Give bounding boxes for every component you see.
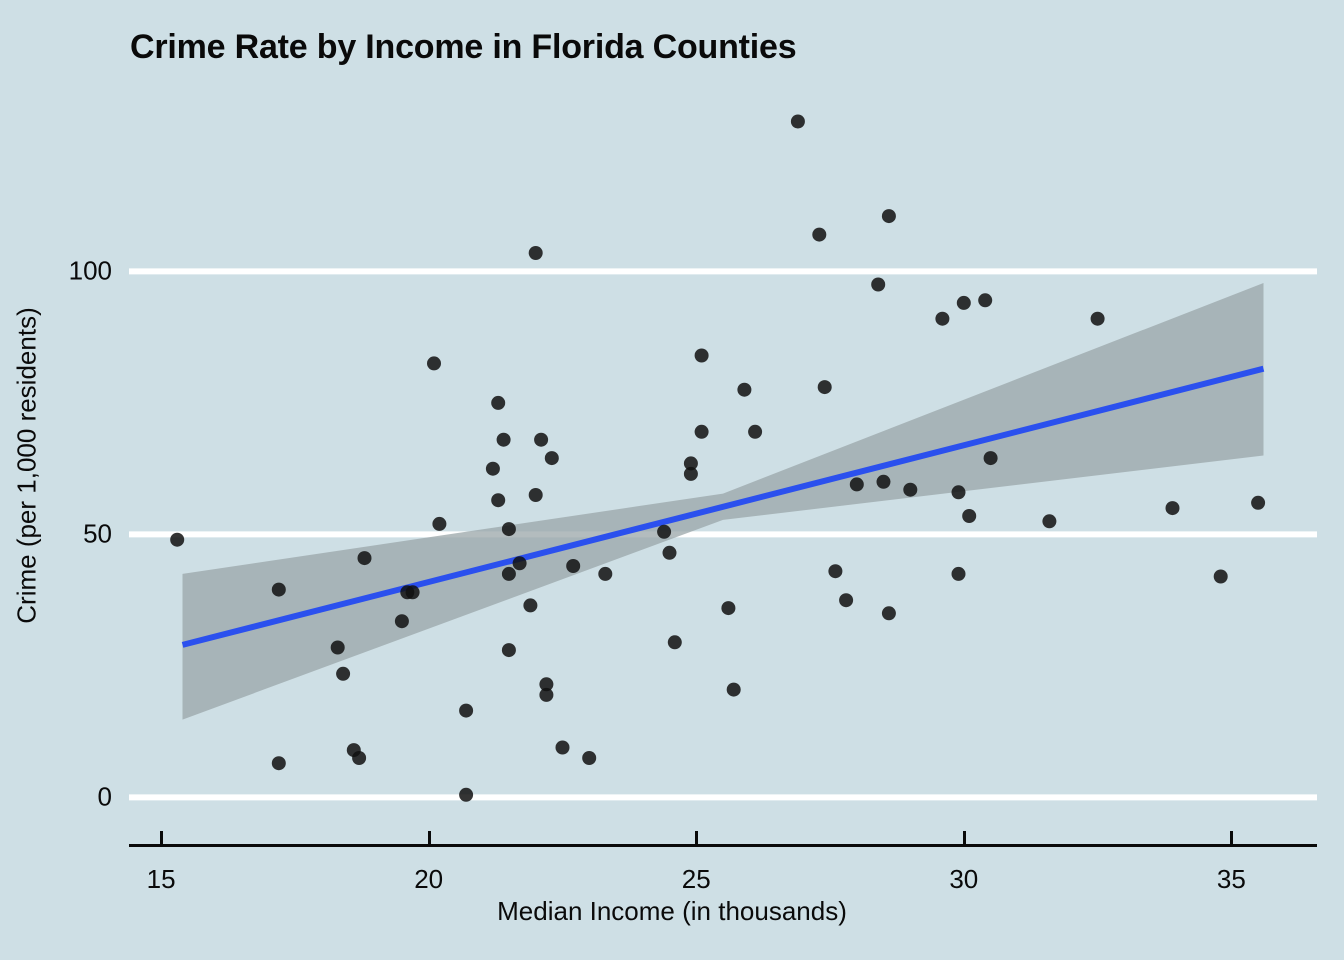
data-point <box>882 606 896 620</box>
data-point <box>1214 570 1228 584</box>
data-point <box>828 564 842 578</box>
data-point <box>502 522 516 536</box>
chart-figure: Crime Rate by Income in Florida Counties… <box>0 0 1344 960</box>
data-point <box>352 751 366 765</box>
data-point <box>695 425 709 439</box>
data-point <box>529 488 543 502</box>
data-point <box>502 567 516 581</box>
data-point <box>1091 312 1105 326</box>
data-point <box>882 209 896 223</box>
data-point <box>737 383 751 397</box>
data-point <box>358 551 372 565</box>
data-point <box>598 567 612 581</box>
x-tick-mark-1 <box>428 831 431 845</box>
x-tick-label-2: 25 <box>682 864 711 895</box>
data-point <box>903 483 917 497</box>
data-point <box>1042 514 1056 528</box>
x-tick-mark-0 <box>160 831 163 845</box>
data-point <box>1166 501 1180 515</box>
data-point <box>523 598 537 612</box>
y-tick-label-2: 100 <box>69 256 112 287</box>
data-point <box>502 643 516 657</box>
x-tick-label-0: 15 <box>147 864 176 895</box>
data-point <box>459 788 473 802</box>
data-point <box>871 278 885 292</box>
data-point <box>566 559 580 573</box>
regression-line-group <box>183 369 1264 645</box>
data-point <box>529 246 543 260</box>
data-point <box>406 585 420 599</box>
plot-panel <box>129 82 1317 829</box>
data-point <box>748 425 762 439</box>
confidence-band <box>183 283 1264 720</box>
data-point <box>791 115 805 129</box>
data-point <box>684 456 698 470</box>
data-point <box>935 312 949 326</box>
data-point <box>668 635 682 649</box>
data-point <box>877 475 891 489</box>
x-tick-label-4: 35 <box>1217 864 1246 895</box>
data-point <box>272 583 286 597</box>
data-point <box>556 741 570 755</box>
y-axis-label: Crime (per 1,000 residents) <box>12 206 43 726</box>
confidence-band-group <box>183 283 1264 720</box>
data-point <box>657 525 671 539</box>
data-point <box>170 533 184 547</box>
scatter-plot-svg <box>129 82 1317 829</box>
data-point <box>432 517 446 531</box>
data-point <box>1251 496 1265 510</box>
data-point <box>539 688 553 702</box>
data-point <box>486 462 500 476</box>
data-point <box>491 493 505 507</box>
data-point <box>513 556 527 570</box>
x-tick-mark-2 <box>695 831 698 845</box>
data-point <box>952 485 966 499</box>
data-point <box>721 601 735 615</box>
data-point <box>727 683 741 697</box>
x-axis-line <box>129 844 1317 847</box>
x-axis-label: Median Income (in thousands) <box>0 896 1344 927</box>
data-point <box>491 396 505 410</box>
data-point <box>952 567 966 581</box>
data-point <box>534 433 548 447</box>
data-point <box>459 704 473 718</box>
data-point <box>545 451 559 465</box>
page-title: Crime Rate by Income in Florida Counties <box>130 28 796 67</box>
data-point <box>272 756 286 770</box>
x-tick-label-3: 30 <box>949 864 978 895</box>
data-point <box>978 293 992 307</box>
data-point <box>331 641 345 655</box>
data-point <box>962 509 976 523</box>
data-point <box>497 433 511 447</box>
data-point <box>663 546 677 560</box>
x-tick-label-1: 20 <box>414 864 443 895</box>
data-point <box>336 667 350 681</box>
regression-line <box>183 369 1264 645</box>
data-point <box>984 451 998 465</box>
y-tick-label-0: 0 <box>98 782 112 813</box>
data-point <box>850 477 864 491</box>
data-point <box>695 349 709 363</box>
data-point <box>839 593 853 607</box>
data-point <box>395 614 409 628</box>
data-point <box>812 228 826 242</box>
y-tick-label-1: 50 <box>83 519 112 550</box>
data-point <box>582 751 596 765</box>
data-point <box>818 380 832 394</box>
data-point <box>957 296 971 310</box>
data-point <box>427 356 441 370</box>
x-tick-mark-3 <box>963 831 966 845</box>
x-tick-mark-4 <box>1230 831 1233 845</box>
